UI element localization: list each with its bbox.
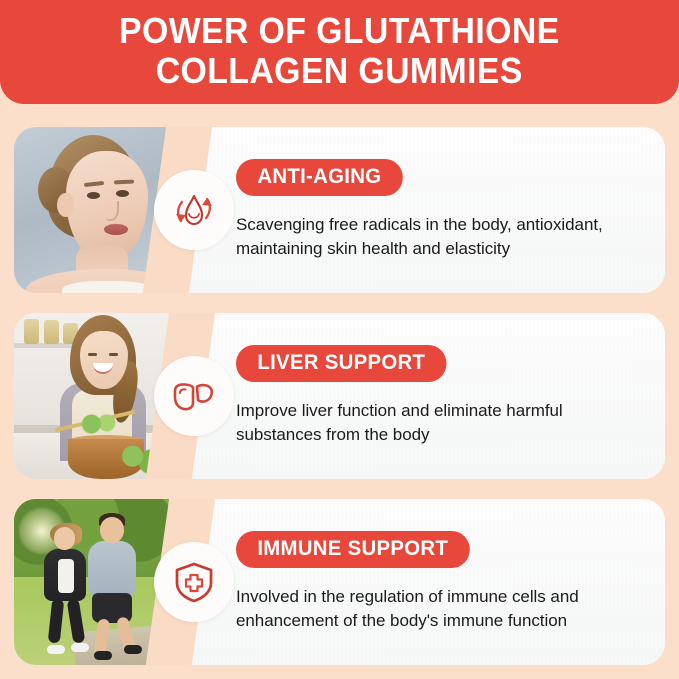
man-shoe-shape <box>124 645 142 654</box>
badge-liver-support: LIVER SUPPORT <box>236 345 447 382</box>
eye-left-shape <box>88 353 97 356</box>
badge-immune-support: IMMUNE SUPPORT <box>236 531 469 568</box>
header-title-line-1: POWER OF GLUTATHIONE <box>119 11 560 51</box>
woman-leg-shape <box>67 598 86 643</box>
ear-shape <box>57 193 74 217</box>
woman-leg-shape <box>48 598 65 643</box>
header-banner: POWER OF GLUTATHIONE COLLAGEN GUMMIES <box>0 0 679 104</box>
eye-right-shape <box>116 190 129 197</box>
card-content-liver-support: LIVER SUPPORT Improve liver function and… <box>236 313 647 479</box>
description-anti-aging: Scavenging free radicals in the body, an… <box>236 213 647 261</box>
woman-shoe-shape <box>71 643 89 652</box>
man-head-shape <box>100 517 124 543</box>
benefit-card-anti-aging: ANTI-AGING Scavenging free radicals in t… <box>14 127 665 293</box>
tank-top-shape <box>62 281 154 293</box>
eye-right-shape <box>109 353 118 356</box>
eye-left-shape <box>87 192 100 199</box>
badge-anti-aging: ANTI-AGING <box>236 159 403 196</box>
liver-icon <box>154 356 234 436</box>
lips-shape <box>104 224 128 235</box>
benefit-card-liver-support: LIVER SUPPORT Improve liver function and… <box>14 313 665 479</box>
face-renewal-icon <box>154 170 234 250</box>
shield-cross-icon <box>154 542 234 622</box>
lettuce-shape <box>76 413 120 435</box>
woman-shoe-shape <box>47 645 65 654</box>
woman-head-shape <box>54 527 75 550</box>
jar-shape <box>44 320 59 344</box>
description-immune-support: Involved in the regulation of immune cel… <box>236 585 647 633</box>
jar-shape <box>24 319 39 344</box>
header-title-line-2: COLLAGEN GUMMIES <box>156 51 523 91</box>
benefit-card-immune-support: IMMUNE SUPPORT Involved in the regulatio… <box>14 499 665 665</box>
description-liver-support: Improve liver function and eliminate har… <box>236 399 647 447</box>
man-torso-shape <box>88 541 136 597</box>
card-content-anti-aging: ANTI-AGING Scavenging free radicals in t… <box>236 127 647 293</box>
man-shoe-shape <box>94 651 112 660</box>
card-content-immune-support: IMMUNE SUPPORT Involved in the regulatio… <box>236 499 647 665</box>
woman-shirt-shape <box>58 559 74 593</box>
